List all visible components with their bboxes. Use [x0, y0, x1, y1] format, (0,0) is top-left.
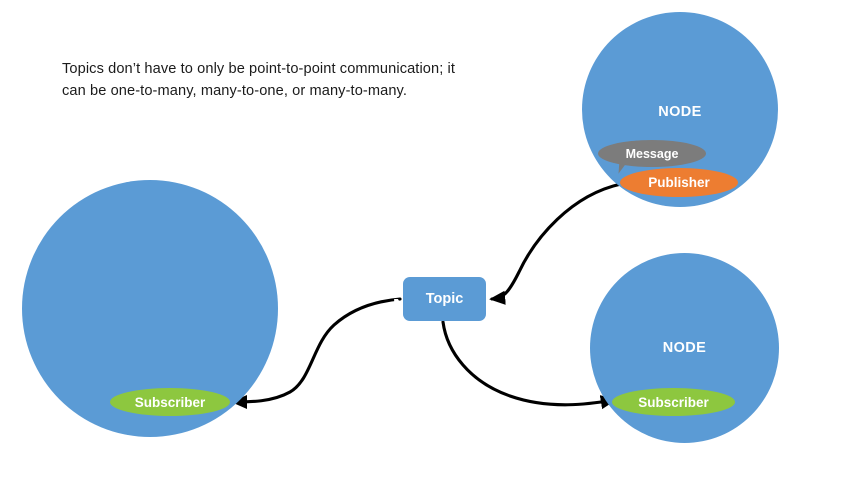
subscriber-pill-right[interactable]: Subscriber [612, 388, 735, 416]
topic-box[interactable]: Topic [403, 277, 486, 321]
node-bottom-right-label: NODE [590, 340, 779, 356]
node-top-right-label: NODE [582, 104, 778, 120]
message-bubble-tail-icon [619, 160, 632, 175]
publisher-pill[interactable]: Publisher [620, 168, 738, 197]
caption-text: Topics don’t have to only be point-to-po… [62, 58, 482, 102]
arrow-topic-to-subscriber-right [443, 322, 614, 405]
subscriber-pill-left[interactable]: Subscriber [110, 388, 230, 416]
arrow-publisher-to-topic [492, 184, 621, 299]
message-bubble: Message [598, 140, 706, 167]
diagram-canvas: Topics don’t have to only be point-to-po… [0, 0, 854, 480]
